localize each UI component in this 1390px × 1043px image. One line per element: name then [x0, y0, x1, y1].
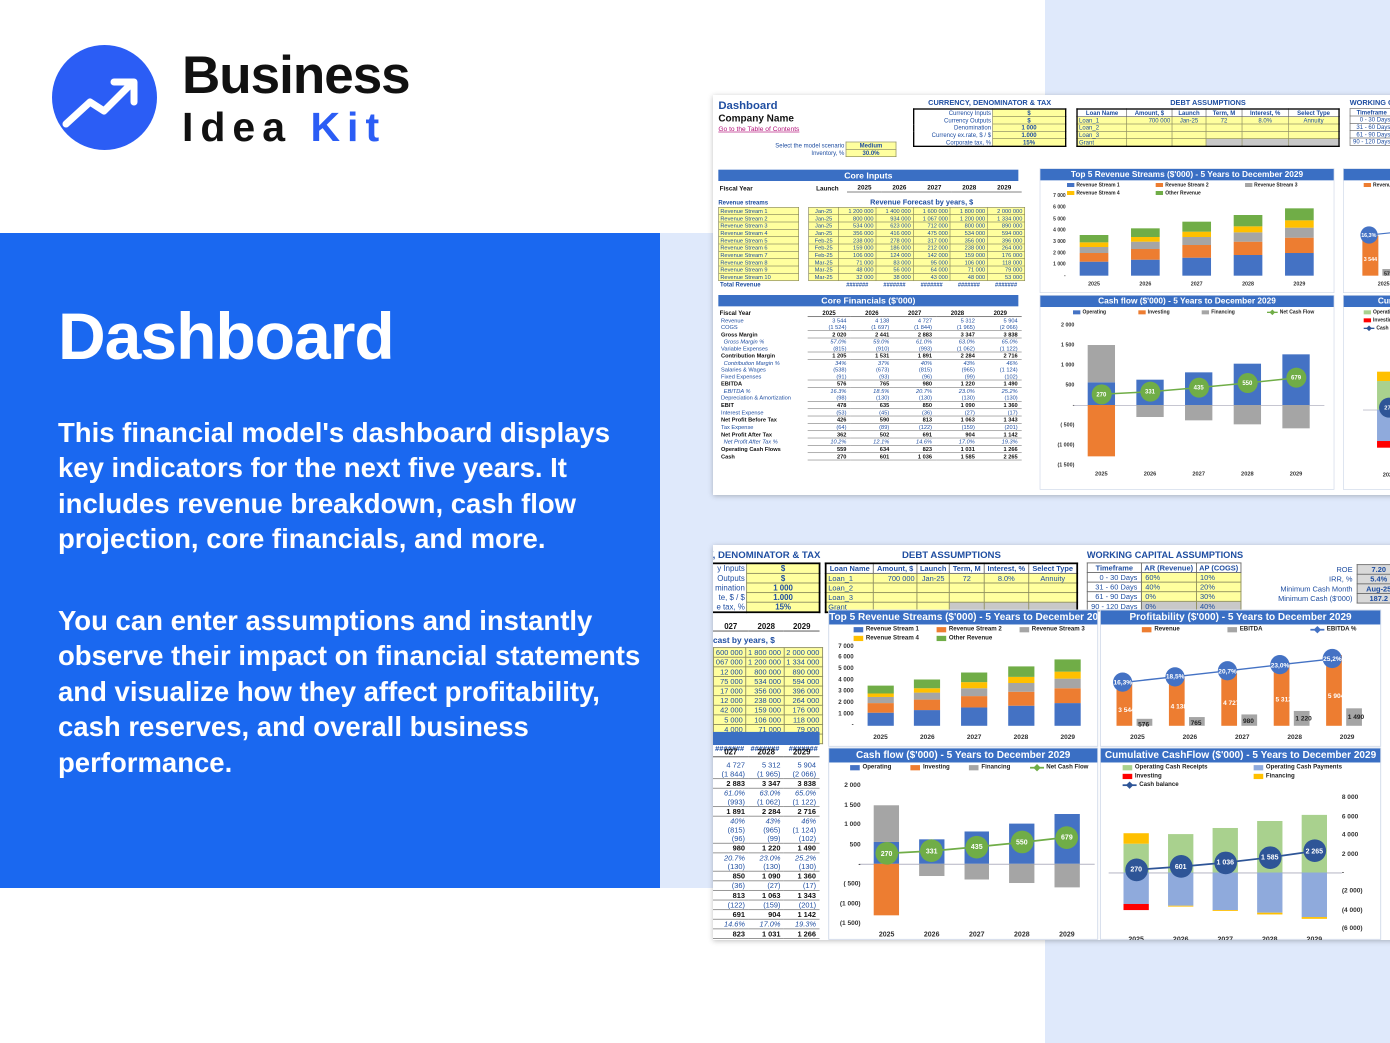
table-cell[interactable]: Annuity [1288, 117, 1339, 124]
table-cell[interactable]: 0% [1141, 592, 1196, 602]
inventory-input[interactable]: 30.0% [846, 149, 896, 156]
table-row[interactable]: Loan_1700 000Jan-25728.0%Annuity [1077, 117, 1339, 124]
stream-name[interactable]: Revenue Stream 1 [719, 207, 799, 214]
table-row[interactable]: Revenue Stream 9Mar-2548 00056 00064 000… [719, 266, 1025, 273]
stream-value[interactable]: 42 000 [713, 705, 745, 715]
table-row[interactable]: Revenue Stream 6Feb-25159 000186 000212 … [719, 244, 1025, 251]
table-row[interactable]: Loan_3 [826, 593, 1078, 603]
table-row: COGS(1 524)(1 697)(1 844)(1 965)(2 066) [718, 324, 1021, 331]
table-row[interactable]: mination1 000 [713, 583, 820, 593]
row-value: (36) [893, 409, 936, 416]
stream-launch[interactable]: Jan-25 [809, 207, 839, 214]
stream-value[interactable]: 12 000 [713, 667, 745, 677]
working-capital-table[interactable]: TimeframeAR (Revenue)AP (COGS)0 - 30 Day… [1350, 108, 1390, 145]
table-cell[interactable]: 31 - 60 Days [1350, 123, 1390, 130]
table-cell[interactable] [1029, 593, 1078, 603]
table-cell[interactable] [984, 583, 1029, 593]
table-row[interactable]: Revenue Stream 2Jan-25800 000934 0001 06… [719, 215, 1025, 222]
table-cell[interactable] [984, 593, 1029, 603]
table-row: Fixed Expenses(91)(93)(96)(99)(102) [718, 373, 1021, 380]
table-cell[interactable] [1288, 124, 1339, 131]
table-row: 9801 2201 490 [713, 843, 820, 853]
table-cell[interactable]: Jan-25 [917, 573, 950, 583]
chart-revenue-streams-top[interactable]: Top 5 Revenue Streams ($'000) - 5 Years … [1040, 168, 1335, 293]
stream-launch[interactable]: Feb-25 [809, 237, 839, 244]
table-row[interactable]: Loan_2 [826, 583, 1078, 593]
stream-value[interactable]: 067 000 [713, 657, 745, 667]
stream-value[interactable]: 142 000 [913, 251, 950, 258]
table-cell[interactable] [1172, 131, 1206, 138]
stream-value[interactable]: 1 800 000 [746, 648, 784, 658]
spacer [799, 244, 809, 251]
currency-value[interactable]: 1.000 [993, 131, 1066, 138]
chart-profitability[interactable]: Profitability ($'000) - 5 Years to Decem… [1100, 610, 1381, 747]
table-cell[interactable]: 10% [1196, 573, 1241, 583]
y-tick-label: 8 000 [1342, 793, 1358, 801]
table-row[interactable]: Outputs$ [713, 573, 820, 583]
stream-value[interactable]: 1 800 000 [950, 207, 987, 214]
table-row[interactable]: 067 0001 200 0001 334 000 [713, 657, 822, 667]
table-row: (122)(159)(201) [713, 900, 820, 910]
table-cell[interactable] [1206, 139, 1242, 147]
legend-label: Operating Cash Payments [1266, 764, 1342, 770]
stream-value[interactable]: 396 000 [784, 686, 822, 696]
row-value: 904 [936, 431, 979, 438]
logo-line-business: Business [182, 49, 410, 102]
legend-swatch [1202, 310, 1209, 314]
table-row: Contribution Margin %34%37%40%43%46% [718, 359, 1021, 366]
table-row[interactable]: Currency ex.rate, $ / $1.000 [914, 131, 1066, 138]
stream-value[interactable]: 38 000 [876, 273, 913, 280]
table-row[interactable]: Currency Outputs$ [914, 117, 1066, 124]
debt-assumptions-table[interactable]: Loan NameAmount, $LaunchTerm, MInterest,… [1076, 108, 1339, 147]
stream-value[interactable]: 800 000 [839, 215, 876, 222]
data-bubble: 331 [1140, 382, 1160, 402]
total-value: ####### [913, 281, 950, 288]
table-cell[interactable] [1288, 139, 1339, 147]
chart-legend: Revenue Stream 1Revenue Stream 2Revenue … [854, 626, 1094, 641]
row-value: 34% [808, 359, 851, 366]
stream-value[interactable]: 83 000 [876, 259, 913, 266]
stream-launch[interactable]: Jan-25 [809, 215, 839, 222]
stream-value[interactable]: 534 000 [950, 229, 987, 236]
x-tick-label: 2026 [1120, 281, 1171, 287]
chart-cash-flow[interactable]: Cash flow ($'000) - 5 Years to December … [828, 748, 1098, 940]
table-cell[interactable] [873, 583, 916, 593]
dashboard-screenshot-bottom[interactable]: Y, DENOMINATOR & TAX y Inputs$Outputs$mi… [713, 545, 1390, 940]
stream-value[interactable]: 95 000 [913, 259, 950, 266]
table-row[interactable]: 12 000238 000264 000 [713, 696, 822, 706]
chart-plot: 2706011 0361 5852 265 [1367, 336, 1390, 466]
stream-value[interactable]: 278 000 [876, 237, 913, 244]
stream-value[interactable]: 159 000 [839, 244, 876, 251]
row-value: (159) [936, 423, 979, 430]
table-cell[interactable] [917, 583, 950, 593]
table-row[interactable]: 17 000356 000396 000 [713, 686, 822, 696]
working-capital-table[interactable]: TimeframeAR (Revenue)AP (COGS)0 - 30 Day… [1087, 562, 1242, 611]
stream-value[interactable]: 159 000 [950, 251, 987, 258]
stream-value[interactable]: 623 000 [876, 222, 913, 229]
table-row[interactable]: Loan_1700 000Jan-25728.0%Annuity [826, 573, 1078, 583]
row-value: 17.0% [936, 438, 979, 445]
stream-value[interactable]: 1 400 000 [876, 207, 913, 214]
bar-segment [1182, 222, 1211, 232]
stream-value[interactable]: 890 000 [987, 222, 1024, 229]
y-tick-label: 6 000 [1040, 204, 1065, 210]
row-value: 2 284 [749, 807, 785, 817]
currency-value[interactable]: 15% [747, 602, 820, 612]
stream-value[interactable]: 534 000 [839, 222, 876, 229]
working-capital-heading: WORKING CAPITAL ASSUMPTIONS [1350, 99, 1390, 107]
stream-value[interactable]: 75 000 [713, 676, 745, 686]
stream-value[interactable]: 71 000 [950, 266, 987, 273]
year-header: 2027 [917, 184, 952, 192]
stream-value[interactable]: 48 000 [839, 266, 876, 273]
stream-value[interactable]: 1 200 000 [950, 215, 987, 222]
stream-name[interactable]: Revenue Stream 4 [719, 229, 799, 236]
table-row[interactable]: Revenue Stream 5Feb-25238 000278 000317 … [719, 237, 1025, 244]
table-row[interactable]: Revenue Stream 4Jan-25356 000416 000475 … [719, 229, 1025, 236]
row-label: Gross Margin % [718, 338, 807, 345]
stream-value[interactable]: 79 000 [987, 266, 1024, 273]
currency-value[interactable]: $ [747, 563, 820, 573]
y-tick-label: 4 000 [1040, 227, 1065, 233]
table-row[interactable]: Currency Inputs$ [914, 109, 1066, 117]
row-label: Tax Expense [718, 423, 807, 430]
core-inputs-banner: Core Inputs [718, 170, 1018, 181]
table-cell[interactable]: Loan_2 [1077, 124, 1127, 131]
table-row: Interest Expense(53)(45)(36)(27)(17) [718, 409, 1021, 416]
stream-value[interactable]: 600 000 [713, 648, 745, 658]
stream-value[interactable]: 264 000 [987, 244, 1024, 251]
debt-assumptions-table[interactable]: Loan NameAmount, $LaunchTerm, MInterest,… [825, 562, 1078, 613]
stream-launch[interactable]: Mar-25 [809, 259, 839, 266]
stream-launch[interactable]: Jan-25 [809, 229, 839, 236]
row-value: 16.3% [808, 387, 851, 394]
row-label: EBIT [718, 401, 807, 408]
table-cell[interactable]: 8.0% [984, 573, 1029, 583]
table-cell[interactable] [1242, 139, 1289, 147]
core-financials-table[interactable]: 4 7275 3125 904(1 844)(1 965)(2 066)2 88… [713, 761, 820, 940]
table-cell[interactable] [1206, 131, 1242, 138]
stream-value[interactable]: 800 000 [950, 222, 987, 229]
stream-value[interactable]: 176 000 [987, 251, 1024, 258]
stream-name[interactable]: Revenue Stream 7 [719, 251, 799, 258]
stream-value[interactable]: 1 334 000 [987, 215, 1024, 222]
stream-value[interactable]: 5 000 [713, 715, 745, 725]
currency-label: y Inputs [713, 563, 747, 573]
table-row[interactable]: 61 - 90 Days0%30% [1350, 131, 1390, 138]
row-value: (2 066) [784, 769, 820, 778]
table-row[interactable]: Corporate tax, %15% [914, 139, 1066, 147]
table-cell[interactable] [1127, 139, 1172, 147]
stream-value[interactable]: 118 000 [987, 259, 1024, 266]
stream-launch[interactable]: Mar-25 [809, 266, 839, 273]
table-cell[interactable]: 700 000 [873, 573, 916, 583]
table-row: 1 8912 2842 716 [713, 807, 820, 817]
row-value: 2 716 [979, 352, 1022, 359]
stream-value[interactable]: 1 600 000 [913, 207, 950, 214]
stream-value[interactable]: 176 000 [784, 705, 822, 715]
table-cell[interactable] [950, 583, 984, 593]
stream-launch[interactable]: Jan-25 [809, 222, 839, 229]
chart-cumulative-cashflow-top[interactable]: Cumulative CashFlow ($'000) - 5 Years to… [1343, 295, 1390, 490]
table-row[interactable]: e tax, %15% [713, 602, 820, 612]
stream-launch[interactable]: Feb-25 [809, 244, 839, 251]
table-row[interactable]: Revenue Stream 7Feb-25106 000124 000142 … [719, 251, 1025, 258]
stream-value[interactable]: 800 000 [746, 667, 784, 677]
table-row[interactable]: Denomination1 000 [914, 124, 1066, 131]
table-cell[interactable]: 90 - 120 Days [1350, 138, 1390, 145]
row-value: 43% [936, 359, 979, 366]
table-cell[interactable]: 60% [1141, 573, 1196, 583]
data-bubble: 270 [1091, 384, 1111, 404]
data-bubble: 550 [1237, 373, 1257, 393]
currency-table[interactable]: y Inputs$Outputs$mination1 000te, $ / $1… [713, 562, 820, 613]
bar-segment [1182, 245, 1211, 257]
table-row[interactable]: te, $ / $1.000 [713, 593, 820, 603]
table-row[interactable]: 31 - 60 Days40%20% [1350, 123, 1390, 130]
stream-value[interactable]: 2 000 000 [987, 207, 1024, 214]
dashboard-screenshot-top[interactable]: Dashboard Company Name Go to the Table o… [713, 95, 1390, 495]
column-header: Select Type [1288, 109, 1339, 117]
table-cell[interactable]: Jan-25 [1172, 117, 1206, 124]
legend-item: Cash balance [1123, 782, 1245, 788]
x-tick-label: 2027 [951, 733, 998, 741]
table-cell[interactable] [1242, 124, 1289, 131]
table-cell[interactable] [1172, 124, 1206, 131]
table-row[interactable]: 42 000159 000176 000 [713, 705, 822, 715]
table-row[interactable]: Loan_2 [1077, 124, 1339, 131]
x-tick-label: 2029 [1044, 930, 1089, 938]
row-value: (815) [808, 345, 851, 352]
stream-value[interactable]: 212 000 [913, 244, 950, 251]
stream-launch[interactable]: Feb-25 [809, 251, 839, 258]
legend-label: Operating [1082, 309, 1106, 315]
table-row[interactable]: 61 - 90 Days0%30% [1087, 592, 1241, 602]
scenario-select[interactable]: Medium [846, 142, 896, 149]
bar-segment [867, 686, 893, 693]
stream-value[interactable]: 1 200 000 [746, 657, 784, 667]
table-row[interactable]: Revenue Stream 1Jan-251 200 0001 400 000… [719, 207, 1025, 214]
legend-label: Revenue Stream 3 [1254, 182, 1297, 188]
table-cell[interactable]: 700 000 [1127, 117, 1172, 124]
table-of-contents-link[interactable]: Go to the Table of Contents [718, 126, 799, 133]
table-cell[interactable]: Loan_1 [1077, 117, 1127, 124]
table-row[interactable]: y Inputs$ [713, 563, 820, 573]
column-header: Amount, $ [1127, 109, 1172, 117]
row-value: 478 [808, 401, 851, 408]
chart-revenue-streams[interactable]: Top 5 Revenue Streams ($'000) - 5 Years … [828, 610, 1098, 747]
table-row[interactable]: Revenue Stream 8Mar-2571 00083 00095 000… [719, 259, 1025, 266]
row-value: (99) [936, 373, 979, 380]
table-row[interactable]: 75 000534 000594 000 [713, 676, 822, 686]
currency-table[interactable]: Currency Inputs$Currency Outputs$Denomin… [913, 108, 1066, 147]
stream-name[interactable]: Revenue Stream 2 [719, 215, 799, 222]
row-value: (1 844) [713, 769, 749, 778]
stream-value[interactable]: 106 000 [839, 251, 876, 258]
table-cell[interactable]: 20% [1196, 582, 1241, 592]
bar-segment [914, 710, 940, 726]
table-cell[interactable]: 61 - 90 Days [1087, 592, 1141, 602]
stream-value[interactable]: 32 000 [839, 273, 876, 280]
stream-name[interactable]: Revenue Stream 6 [719, 244, 799, 251]
stream-value[interactable]: 64 000 [913, 266, 950, 273]
table-row[interactable]: Grant [1077, 139, 1339, 147]
stream-value[interactable]: 12 000 [713, 696, 745, 706]
table-row[interactable]: 31 - 60 Days40%20% [1087, 582, 1241, 592]
row-value: 1 220 [749, 843, 785, 853]
table-cell[interactable] [950, 593, 984, 603]
row-value: 2 020 [808, 331, 851, 338]
logo-word-kit: Kit [310, 104, 386, 150]
table-row[interactable]: Revenue Stream 10Mar-2532 00038 00043 00… [719, 273, 1025, 280]
stream-value[interactable]: 118 000 [784, 715, 822, 725]
currency-value[interactable]: $ [747, 573, 820, 583]
bar-segment [1080, 243, 1109, 247]
stream-value[interactable]: 396 000 [987, 237, 1024, 244]
stream-value[interactable]: 71 000 [839, 259, 876, 266]
table-cell[interactable]: Annuity [1029, 573, 1078, 583]
table-row[interactable]: 12 000800 000890 000 [713, 667, 822, 677]
row-value: (538) [808, 366, 851, 373]
legend-item: Operating Cash Receipts [1364, 309, 1390, 315]
table-row[interactable]: Revenue Stream 3Jan-25534 000623 000712 … [719, 222, 1025, 229]
table-cell[interactable] [1242, 131, 1289, 138]
stream-name[interactable]: Revenue Stream 8 [719, 259, 799, 266]
year-header: 2026 [882, 184, 917, 192]
table-cell[interactable]: 40% [1141, 582, 1196, 592]
chart-profitability-top[interactable]: Profitability ($'000) - 5 Years to Decem… [1343, 168, 1390, 293]
row-label: Interest Expense [718, 409, 807, 416]
row-value: (130) [749, 862, 785, 871]
stream-value[interactable]: 17 000 [713, 686, 745, 696]
chart-cash-flow-top[interactable]: Cash flow ($'000) - 5 Years to December … [1040, 295, 1335, 490]
currency-value[interactable]: 1.000 [747, 593, 820, 603]
bar-segment [1008, 677, 1034, 683]
table-cell[interactable] [1029, 583, 1078, 593]
stream-value[interactable]: 53 000 [987, 273, 1024, 280]
stream-value[interactable]: 934 000 [876, 215, 913, 222]
row-value: (53) [808, 409, 851, 416]
stream-value[interactable]: 1 200 000 [839, 207, 876, 214]
stream-value[interactable]: 356 000 [950, 237, 987, 244]
table-cell[interactable]: Loan_1 [826, 573, 874, 583]
table-row[interactable]: 90 - 120 Days0%40% [1350, 138, 1390, 145]
table-cell[interactable]: 30% [1196, 592, 1241, 602]
stream-value[interactable]: 106 000 [950, 259, 987, 266]
table-cell[interactable] [1127, 124, 1172, 131]
chart-cumulative-cashflow[interactable]: Cumulative CashFlow ($'000) - 5 Years to… [1100, 748, 1381, 940]
stream-value[interactable]: 712 000 [913, 222, 950, 229]
stream-value[interactable]: 416 000 [876, 229, 913, 236]
stream-value[interactable]: 264 000 [784, 696, 822, 706]
legend-swatch [1123, 784, 1137, 786]
table-cell[interactable]: 8.0% [1242, 117, 1289, 124]
stream-value[interactable]: 186 000 [876, 244, 913, 251]
stream-value[interactable]: 594 000 [784, 676, 822, 686]
currency-value[interactable]: $ [993, 109, 1066, 117]
table-row[interactable]: Loan_3 [1077, 131, 1339, 138]
stream-name[interactable]: Revenue Stream 9 [719, 266, 799, 273]
stream-value[interactable]: 238 000 [746, 696, 784, 706]
stream-name[interactable]: Revenue Stream 5 [719, 237, 799, 244]
table-cell[interactable]: 0 - 30 Days [1350, 116, 1390, 123]
year-header: 2029 [979, 310, 1022, 317]
table-cell[interactable] [873, 593, 916, 603]
stream-value[interactable]: 2 000 000 [784, 648, 822, 658]
chart-legend: RevenueEBITDAEBITDA % [1364, 182, 1390, 188]
table-cell[interactable]: Loan_2 [826, 583, 874, 593]
bar-segment [1234, 226, 1263, 232]
table-cell[interactable] [1288, 131, 1339, 138]
stream-value[interactable]: 594 000 [987, 229, 1024, 236]
stream-value[interactable]: 356 000 [839, 229, 876, 236]
bar-segment [961, 708, 987, 726]
row-label: Fixed Expenses [718, 373, 807, 380]
stream-name[interactable]: Revenue Stream 3 [719, 222, 799, 229]
stream-value[interactable]: 1 334 000 [784, 657, 822, 667]
currency-value[interactable]: 15% [993, 139, 1066, 147]
table-cell[interactable]: Loan_3 [826, 593, 874, 603]
stream-value[interactable]: 475 000 [913, 229, 950, 236]
bar-segment [1285, 221, 1314, 228]
currency-value[interactable]: $ [993, 117, 1066, 124]
stream-value[interactable]: 534 000 [746, 676, 784, 686]
stream-value[interactable]: 356 000 [746, 686, 784, 696]
table-cell[interactable]: 0 - 30 Days [1087, 573, 1141, 583]
row-value: (965) [749, 825, 785, 834]
table-cell[interactable]: Loan_3 [1077, 131, 1127, 138]
revenue-forecast-table[interactable]: Revenue Stream 1Jan-251 200 0001 400 000… [718, 207, 1025, 288]
stream-value[interactable]: 124 000 [876, 251, 913, 258]
table-row[interactable]: 0 - 30 Days60%10% [1087, 573, 1241, 583]
table-cell[interactable] [917, 593, 950, 603]
table-cell[interactable]: 72 [1206, 117, 1242, 124]
stream-value[interactable]: 317 000 [913, 237, 950, 244]
stream-value[interactable]: 238 000 [950, 244, 987, 251]
table-row[interactable]: 5 000106 000118 000 [713, 715, 822, 725]
table-cell[interactable] [1127, 131, 1172, 138]
stream-value[interactable]: 106 000 [746, 715, 784, 725]
table-cell[interactable]: 61 - 90 Days [1350, 131, 1390, 138]
y-tick-label: (1 000) [829, 899, 860, 907]
legend-label: Operating Cash Receipts [1135, 764, 1208, 770]
stream-value[interactable]: 238 000 [839, 237, 876, 244]
logo-word-idea: Idea [182, 104, 310, 150]
table-cell[interactable]: 72 [950, 573, 984, 583]
stream-value[interactable]: 48 000 [950, 273, 987, 280]
currency-value[interactable]: 1 000 [747, 583, 820, 593]
stream-value[interactable]: 43 000 [913, 273, 950, 280]
row-value: 23.0% [749, 853, 785, 862]
stream-value[interactable]: 159 000 [746, 705, 784, 715]
currency-value[interactable]: 1 000 [993, 124, 1066, 131]
table-cell[interactable] [1206, 124, 1242, 131]
table-row[interactable]: 600 0001 800 0002 000 000 [713, 648, 822, 658]
table-row[interactable]: 0 - 30 Days60%10% [1350, 116, 1390, 123]
stream-value[interactable]: 890 000 [784, 667, 822, 677]
table-cell[interactable] [1172, 139, 1206, 147]
stream-name[interactable]: Revenue Stream 10 [719, 273, 799, 280]
core-financials-table[interactable]: Fiscal Year20252026202720282029Revenue3 … [718, 310, 1021, 461]
stream-launch[interactable]: Mar-25 [809, 273, 839, 280]
currency-label: Currency Outputs [914, 117, 993, 124]
table-cell[interactable]: Grant [1077, 139, 1127, 147]
stream-value[interactable]: 1 067 000 [913, 215, 950, 222]
stream-value[interactable]: 56 000 [876, 266, 913, 273]
table-cell[interactable]: 31 - 60 Days [1087, 582, 1141, 592]
